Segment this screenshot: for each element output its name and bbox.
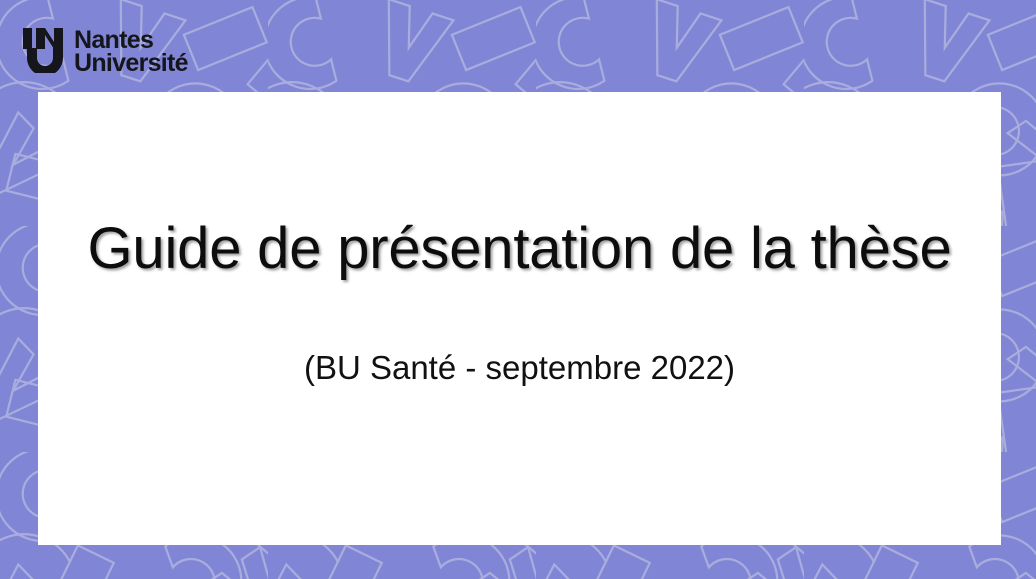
nantes-universite-monogram-icon	[23, 28, 67, 73]
slide-canvas: Guide de présentation de la thèse (BU Sa…	[0, 0, 1036, 579]
nantes-universite-logo: Nantes Université	[23, 28, 188, 76]
page-title: Guide de présentation de la thèse	[38, 219, 1001, 278]
content-card: Guide de présentation de la thèse (BU Sa…	[38, 92, 1001, 545]
page-subtitle: (BU Santé - septembre 2022)	[38, 350, 1001, 386]
logo-wordmark-line2: Université	[74, 52, 188, 75]
